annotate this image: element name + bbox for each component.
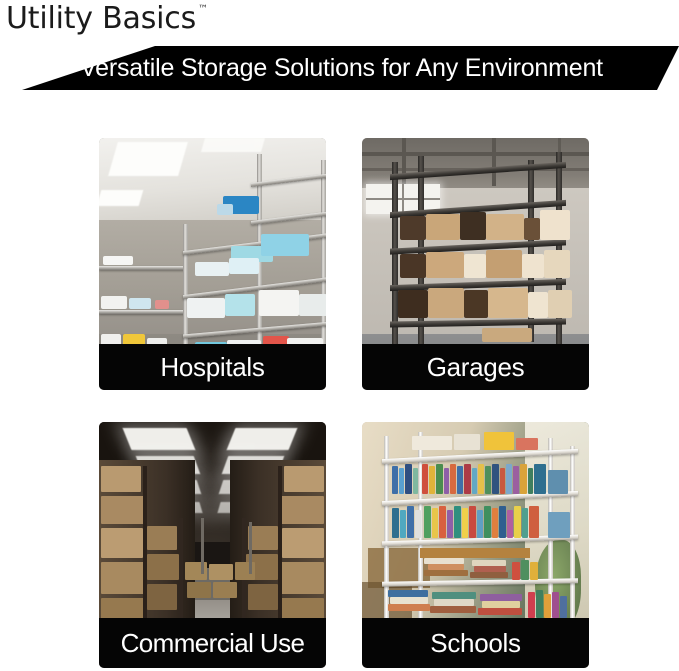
tile-label-hospitals: Hospitals [99,344,326,390]
tile-hospitals[interactable]: Hospitals [99,138,326,390]
environment-tile-grid: Hospitals [99,138,589,668]
tile-label-commercial-use: Commercial Use [99,618,326,668]
brand-name: Utility Basics [6,1,196,37]
tile-label-garages: Garages [362,344,589,390]
banner-headline: Versatile Storage Solutions for Any Envi… [0,46,679,90]
tile-garages[interactable]: Garages [362,138,589,390]
tile-schools[interactable]: Schools [362,422,589,668]
tile-commercial-use[interactable]: Commercial Use [99,422,326,668]
trademark-symbol: ™ [198,5,208,15]
tile-label-schools: Schools [362,618,589,668]
headline-banner: Versatile Storage Solutions for Any Envi… [0,46,679,90]
brand-title: Utility Basics ™ [6,1,208,37]
